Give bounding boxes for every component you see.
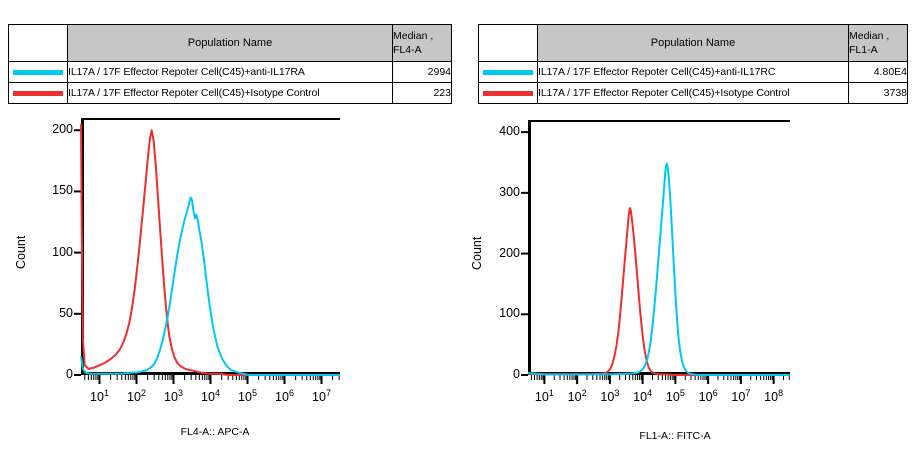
histogram-curve [528,208,790,375]
x-axis-title: FL4-A:: APC-A [85,426,345,438]
y-axis-title: Count [14,235,28,268]
histogram-plot-fl4: 050100150200101102103104105106107Count [0,0,460,452]
histogram-curve [81,124,340,375]
histogram-curves [470,0,916,452]
histogram-curve [528,164,790,375]
histogram-plot-fl1: 0100200300400101102103104105106107108Cou… [470,0,916,452]
panel-fl4-apc: Population Name Median , FL4-A IL17A / 1… [0,0,460,452]
x-axis-title: FL1-A:: FITC-A [545,430,805,442]
panel-fl1-fitc: Population Name Median , FL1-A IL17A / 1… [470,0,916,452]
histogram-curves [0,0,460,452]
y-axis-title: Count [470,236,484,269]
